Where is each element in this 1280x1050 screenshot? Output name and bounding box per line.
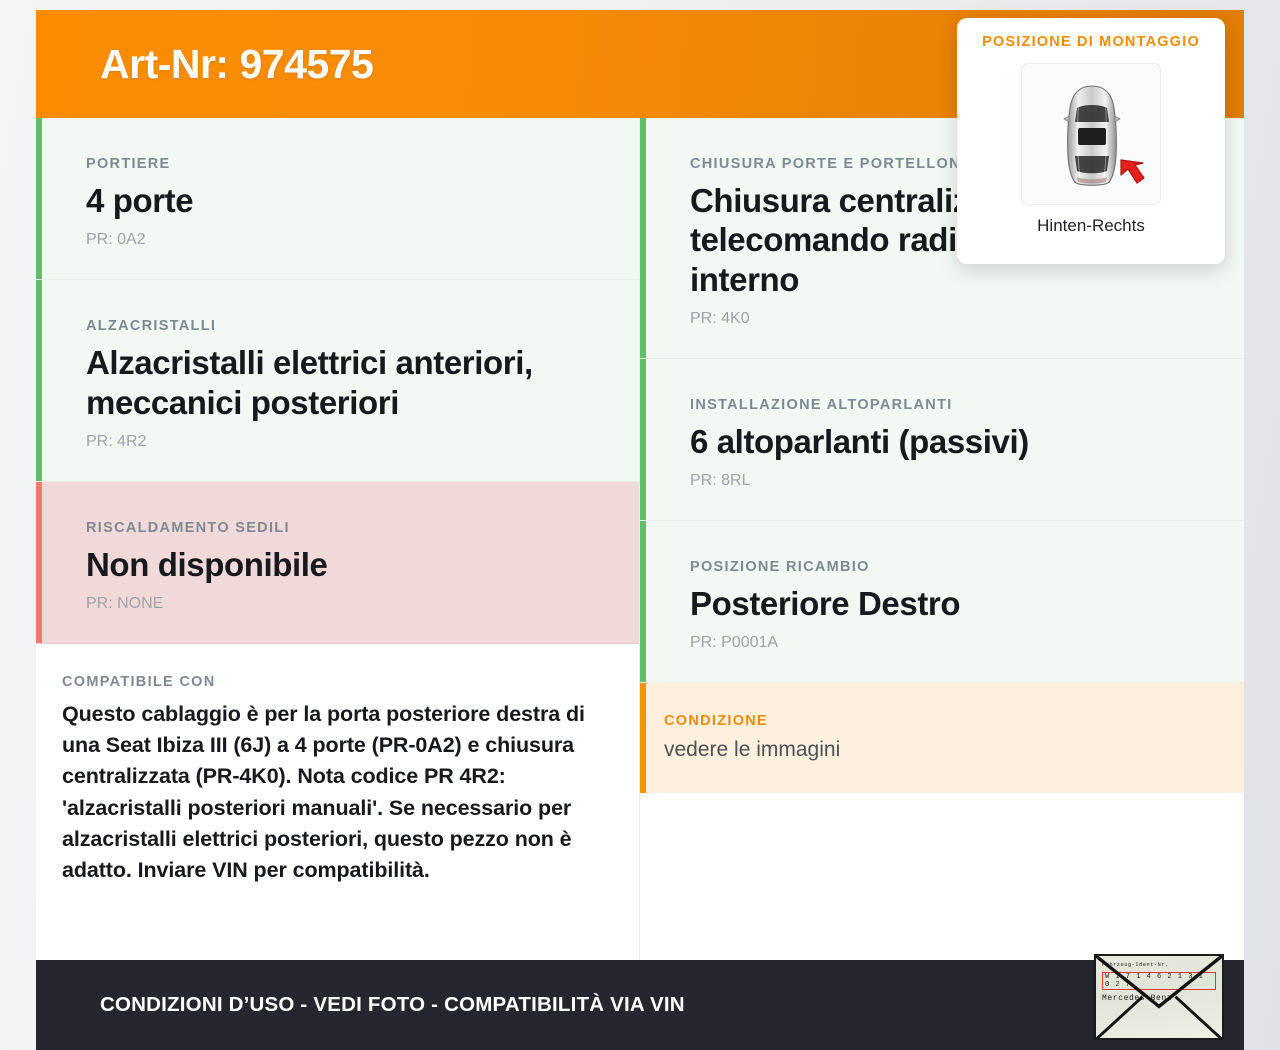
right-column-spacer xyxy=(640,793,1244,960)
spec-pr-code: PR: 4R2 xyxy=(86,433,599,451)
spec-value: Posteriore Destro xyxy=(690,584,1204,623)
spec-block-portiere: PORTIERE 4 porte PR: 0A2 xyxy=(36,118,639,280)
condition-block: CONDIZIONE vedere le immagini xyxy=(640,683,1244,793)
mounting-position-title: POSIZIONE DI MONTAGGIO xyxy=(982,34,1200,50)
car-diagram-svg xyxy=(1022,64,1162,206)
spec-block-posizione-ricambio: POSIZIONE RICAMBIO Posteriore Destro PR:… xyxy=(640,521,1244,683)
spec-label: RISCALDAMENTO SEDILI xyxy=(86,520,599,536)
left-column: PORTIERE 4 porte PR: 0A2 ALZACRISTALLI A… xyxy=(36,118,640,960)
red-arrow-icon xyxy=(1121,160,1144,183)
spec-label: PORTIERE xyxy=(86,156,599,172)
spec-pr-code: PR: 0A2 xyxy=(86,231,599,249)
left-column-spacer xyxy=(36,912,639,960)
spec-label: INSTALLAZIONE ALTOPARLANTI xyxy=(690,397,1204,413)
mounting-position-caption: Hinten-Rechts xyxy=(1037,216,1145,236)
page-root: Art-Nr: 974575 PORTIERE 4 porte PR: 0A2 … xyxy=(0,0,1280,1050)
spec-label: ALZACRISTALLI xyxy=(86,318,599,334)
footer-text: CONDIZIONI D’USO - VEDI FOTO - COMPATIBI… xyxy=(100,993,685,1017)
spec-value: 6 altoparlanti (passivi) xyxy=(690,422,1204,461)
page-title: Art-Nr: 974575 xyxy=(100,41,373,88)
spec-label: POSIZIONE RICAMBIO xyxy=(690,559,1204,575)
condition-text: vedere le immagini xyxy=(664,738,1204,763)
footer-bar: CONDIZIONI D’USO - VEDI FOTO - COMPATIBI… xyxy=(36,960,1244,1050)
spec-pr-code: PR: 8RL xyxy=(690,472,1204,490)
spec-pr-code: PR: 4K0 xyxy=(690,310,1204,328)
envelope-flap-icon xyxy=(1096,956,1222,1039)
envelope-vin-document-icon: Fahrzeug-Ident-Nr. W 1 7 1 4 6 2 1 3 1 0… xyxy=(1094,954,1224,1040)
spec-block-altoparlanti: INSTALLAZIONE ALTOPARLANTI 6 altoparlant… xyxy=(640,359,1244,521)
spec-value: Alzacristalli elettrici anteriori, mecca… xyxy=(86,343,599,422)
spec-block-riscaldamento-sedili: RISCALDAMENTO SEDILI Non disponibile PR:… xyxy=(36,482,639,644)
compatibility-label: COMPATIBILE CON xyxy=(62,674,609,690)
spec-pr-code: PR: P0001A xyxy=(690,634,1204,652)
compatibility-text: Questo cablaggio è per la porta posterio… xyxy=(62,699,609,886)
condition-label: CONDIZIONE xyxy=(664,713,1204,729)
compatibility-block: COMPATIBILE CON Questo cablaggio è per l… xyxy=(36,644,639,912)
car-top-view-icon xyxy=(1021,63,1161,205)
spec-value: Non disponibile xyxy=(86,545,599,584)
spec-value: 4 porte xyxy=(86,181,599,220)
mounting-position-card[interactable]: POSIZIONE DI MONTAGGIO xyxy=(957,18,1225,264)
spec-block-alzacristalli: ALZACRISTALLI Alzacristalli elettrici an… xyxy=(36,280,639,482)
spec-pr-code: PR: NONE xyxy=(86,595,599,613)
